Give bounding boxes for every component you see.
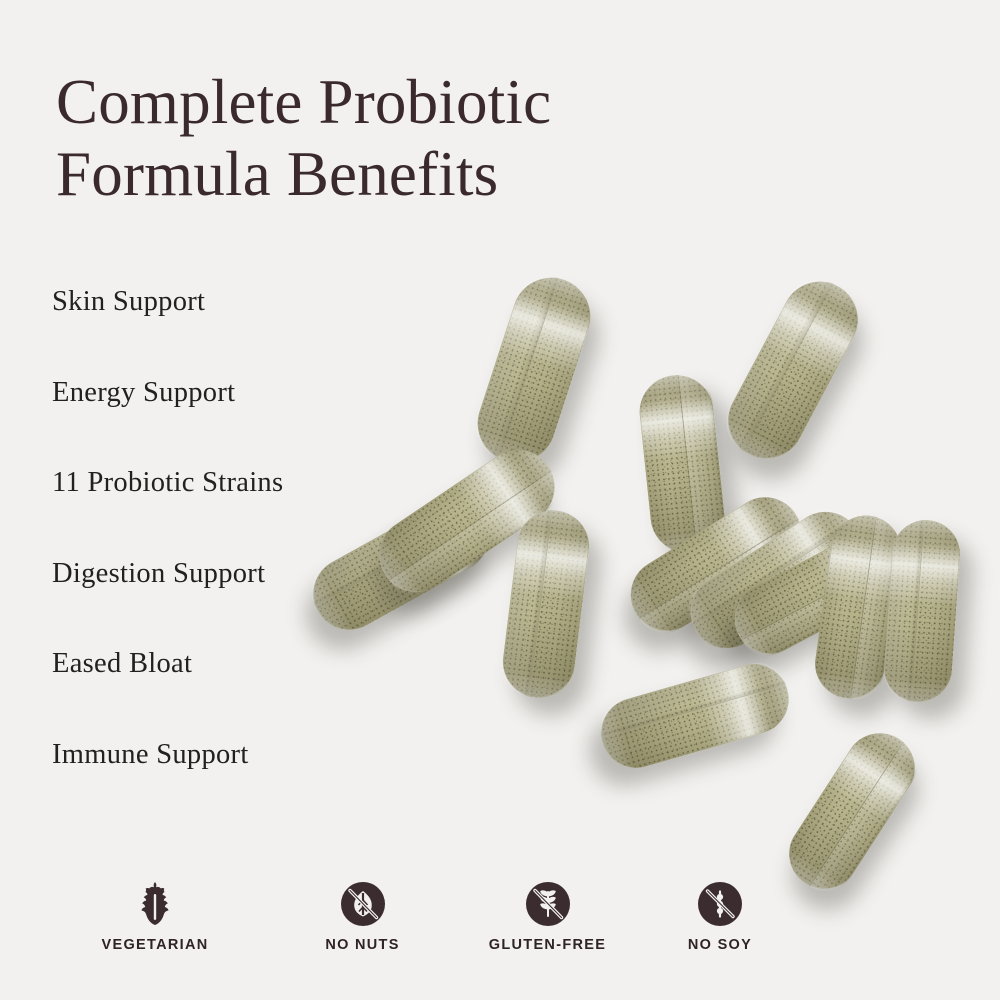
capsule	[499, 506, 593, 701]
list-item: Eased Bloat	[52, 650, 382, 741]
capsule-pile-image	[355, 255, 1000, 875]
page-title-line-1: Complete Probiotic	[56, 66, 736, 138]
certification-badges: VEGETARIAN NO NUTS	[40, 880, 830, 960]
no-nuts-icon	[339, 880, 387, 928]
badge-gluten-free: GLUTEN-FREE	[455, 880, 640, 953]
badge-no-soy: NO SOY	[640, 880, 800, 953]
capsule	[715, 268, 871, 471]
badge-label: VEGETARIAN	[102, 937, 209, 953]
page-title: Complete Probiotic Formula Benefits	[56, 66, 736, 211]
badge-no-nuts: NO NUTS	[270, 880, 455, 953]
list-item: Immune Support	[52, 741, 382, 832]
list-item: 11 Probiotic Strains	[52, 469, 382, 560]
benefits-list: Skin Support Energy Support 11 Probiotic…	[52, 288, 382, 831]
product-benefits-poster: Complete Probiotic Formula Benefits Skin…	[0, 0, 1000, 1000]
capsule	[593, 656, 797, 776]
capsule	[468, 268, 601, 473]
list-item: Energy Support	[52, 379, 382, 470]
badge-vegetarian: VEGETARIAN	[40, 880, 270, 953]
no-gluten-icon	[524, 880, 572, 928]
leaf-icon	[135, 880, 175, 928]
badge-label: GLUTEN-FREE	[489, 937, 606, 953]
badge-label: NO SOY	[688, 937, 752, 953]
page-title-line-2: Formula Benefits	[56, 138, 736, 210]
badge-label: NO NUTS	[325, 937, 399, 953]
capsule	[776, 720, 928, 902]
list-item: Skin Support	[52, 288, 382, 379]
no-soy-icon	[696, 880, 744, 928]
capsule	[882, 518, 963, 704]
